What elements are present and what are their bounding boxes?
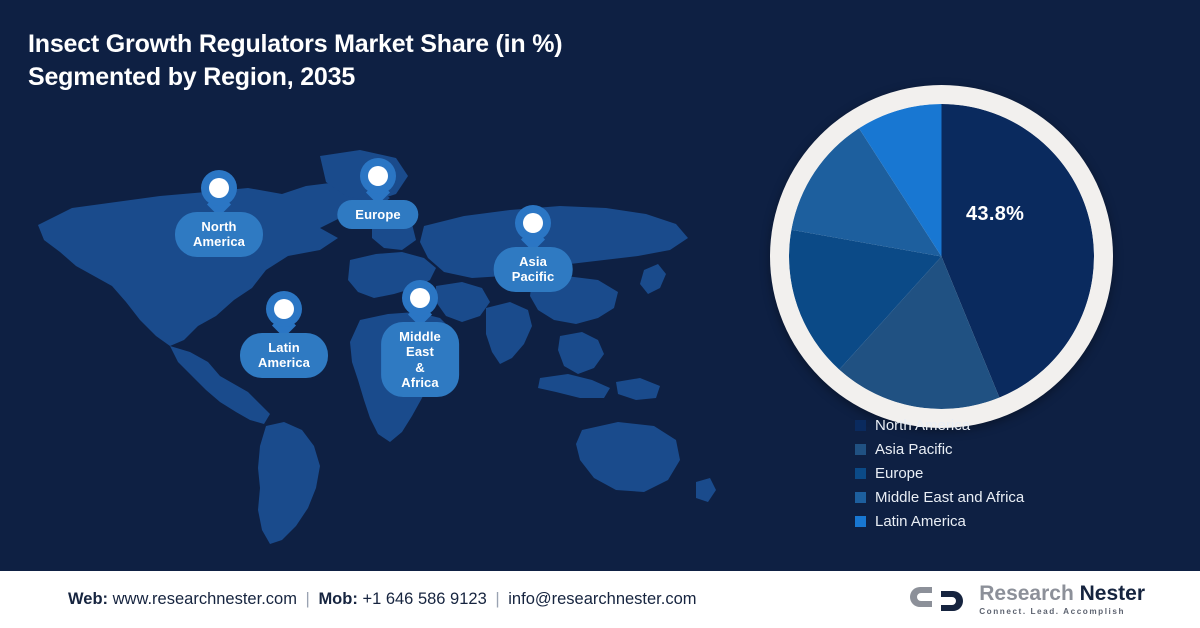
legend-label: Latin America (875, 513, 966, 530)
legend-swatch-icon (855, 444, 866, 455)
legend-swatch-icon (855, 492, 866, 503)
footer-separator: | (302, 590, 314, 608)
legend-item-latin-america[interactable]: Latin America (855, 509, 1024, 533)
location-pin-icon (402, 280, 438, 326)
footer-bar: Web: www.researchnester.com | Mob: +1 64… (0, 571, 1200, 628)
logo-text: Research Nester Connect. Lead. Accomplis… (979, 583, 1145, 616)
legend-label: Europe (875, 465, 923, 482)
legend-label: Asia Pacific (875, 441, 953, 458)
legend-item-middle-east-and-africa[interactable]: Middle East and Africa (855, 485, 1024, 509)
map-marker-label: Latin America (240, 333, 328, 378)
logo-word-research: Research (979, 582, 1074, 605)
map-marker-label: North America (175, 212, 263, 257)
legend-swatch-icon (855, 420, 866, 431)
page-title: Insect Growth Regulators Market Share (i… (28, 28, 748, 93)
legend-swatch-icon (855, 468, 866, 479)
legend-item-asia-pacific[interactable]: Asia Pacific (855, 437, 1024, 461)
footer-mob-value[interactable]: +1 646 586 9123 (362, 590, 486, 608)
location-pin-icon (515, 205, 551, 251)
logo-mark-icon (910, 584, 970, 614)
research-nester-logo[interactable]: Research Nester Connect. Lead. Accomplis… (910, 583, 1145, 616)
chart-legend: North America Asia Pacific Europe Middle… (855, 413, 1024, 533)
pie-chart-disc (789, 104, 1094, 409)
map-marker-label: Asia Pacific (494, 247, 573, 292)
legend-item-north-america[interactable]: North America (855, 413, 1024, 437)
legend-swatch-icon (855, 516, 866, 527)
location-pin-icon (360, 158, 396, 204)
legend-label: North America (875, 417, 970, 434)
footer-web-value[interactable]: www.researchnester.com (113, 590, 297, 608)
map-marker-label: Middle East & Africa (381, 322, 459, 397)
pie-slices (789, 104, 1094, 409)
footer-contact-info: Web: www.researchnester.com | Mob: +1 64… (68, 590, 697, 609)
legend-item-europe[interactable]: Europe (855, 461, 1024, 485)
map-marker-label: Europe (337, 200, 418, 229)
location-pin-icon (266, 291, 302, 337)
world-map: North America Europe Asia Pacific Middle… (20, 130, 740, 550)
footer-email[interactable]: info@researchnester.com (508, 590, 696, 608)
footer-separator: | (491, 590, 503, 608)
footer-web-label: Web: (68, 590, 108, 608)
legend-label: Middle East and Africa (875, 489, 1024, 506)
footer-mob-label: Mob: (318, 590, 357, 608)
pie-slice-label-north-america: 43.8% (966, 203, 1024, 226)
page-title-line-1: Insect Growth Regulators Market Share (i… (28, 28, 748, 61)
page-title-line-2: Segmented by Region, 2035 (28, 61, 748, 94)
logo-tagline: Connect. Lead. Accomplish (979, 607, 1145, 616)
location-pin-icon (201, 170, 237, 216)
logo-word-nester: Nester (1080, 582, 1145, 605)
pie-chart: 43.8% (770, 85, 1113, 428)
logo-title: Research Nester (979, 583, 1145, 605)
